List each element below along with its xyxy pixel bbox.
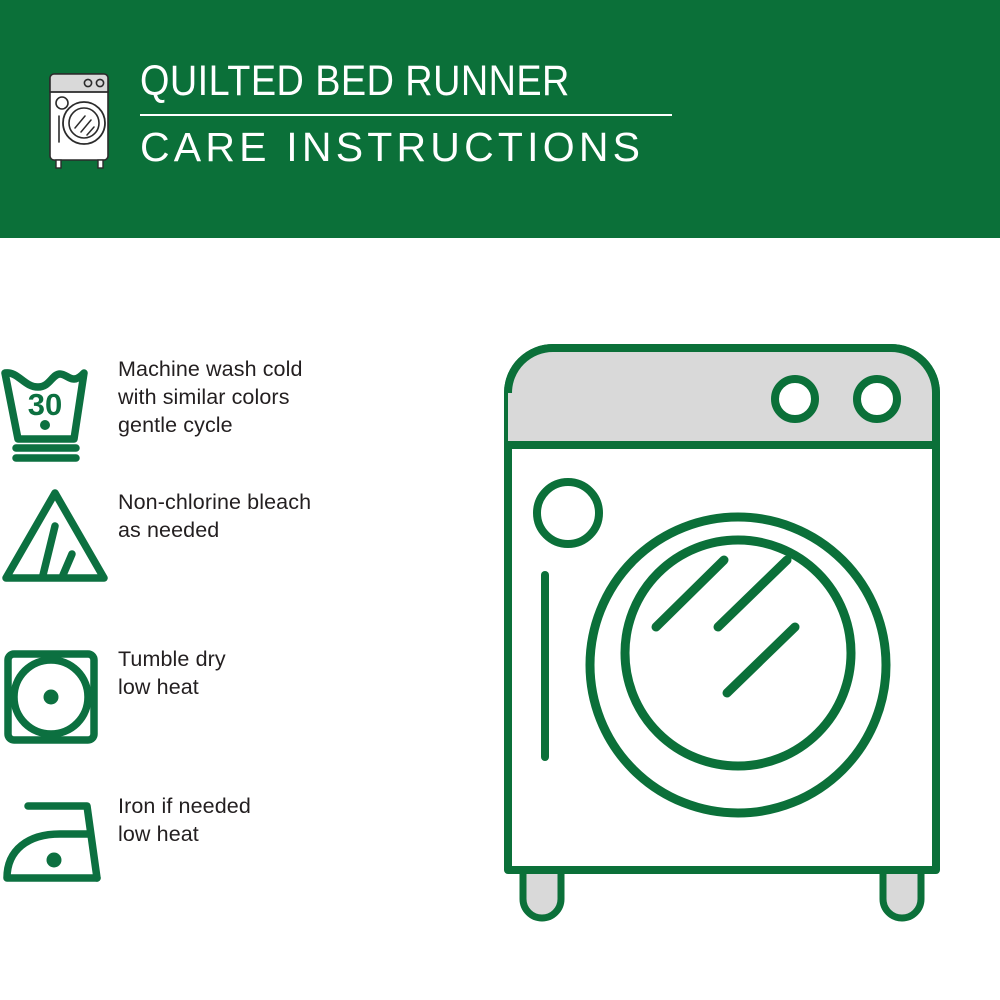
washing-machine-icon — [44, 58, 120, 170]
care-row-dry: Tumble dry low heat — [0, 643, 470, 753]
knob-right — [857, 379, 897, 419]
wash-tub-30-gentle-icon: 30 — [0, 353, 110, 463]
knob-left — [775, 379, 815, 419]
care-text-wash: Machine wash cold with similar colors ge… — [118, 353, 303, 439]
header-content: QUILTED BED RUNNER CARE INSTRUCTIONS — [44, 58, 672, 170]
tumble-dry-low-heat-icon — [0, 643, 110, 753]
care-text-iron: Iron if needed low heat — [118, 790, 251, 848]
care-text-bleach: Non-chlorine bleach as needed — [118, 486, 311, 544]
care-row-bleach: Non-chlorine bleach as needed — [0, 486, 470, 596]
care-text-dry: Tumble dry low heat — [118, 643, 226, 701]
wash-temperature-value: 30 — [28, 387, 62, 422]
front-load-washing-machine-illustration — [495, 335, 965, 935]
iron-low-heat-icon — [0, 790, 110, 900]
page-title-secondary: CARE INSTRUCTIONS — [140, 124, 644, 170]
page-title-primary: QUILTED BED RUNNER — [140, 58, 570, 105]
header-band: QUILTED BED RUNNER CARE INSTRUCTIONS — [0, 0, 1000, 238]
care-row-iron: Iron if needed low heat — [0, 790, 470, 900]
non-chlorine-bleach-triangle-icon — [0, 486, 110, 596]
header-title-block: QUILTED BED RUNNER CARE INSTRUCTIONS — [140, 58, 672, 170]
title-divider — [140, 114, 672, 116]
care-instructions-infographic: QUILTED BED RUNNER CARE INSTRUCTIONS — [0, 0, 1000, 1000]
care-row-wash: 30 Machine wash cold with similar colors… — [0, 353, 470, 463]
